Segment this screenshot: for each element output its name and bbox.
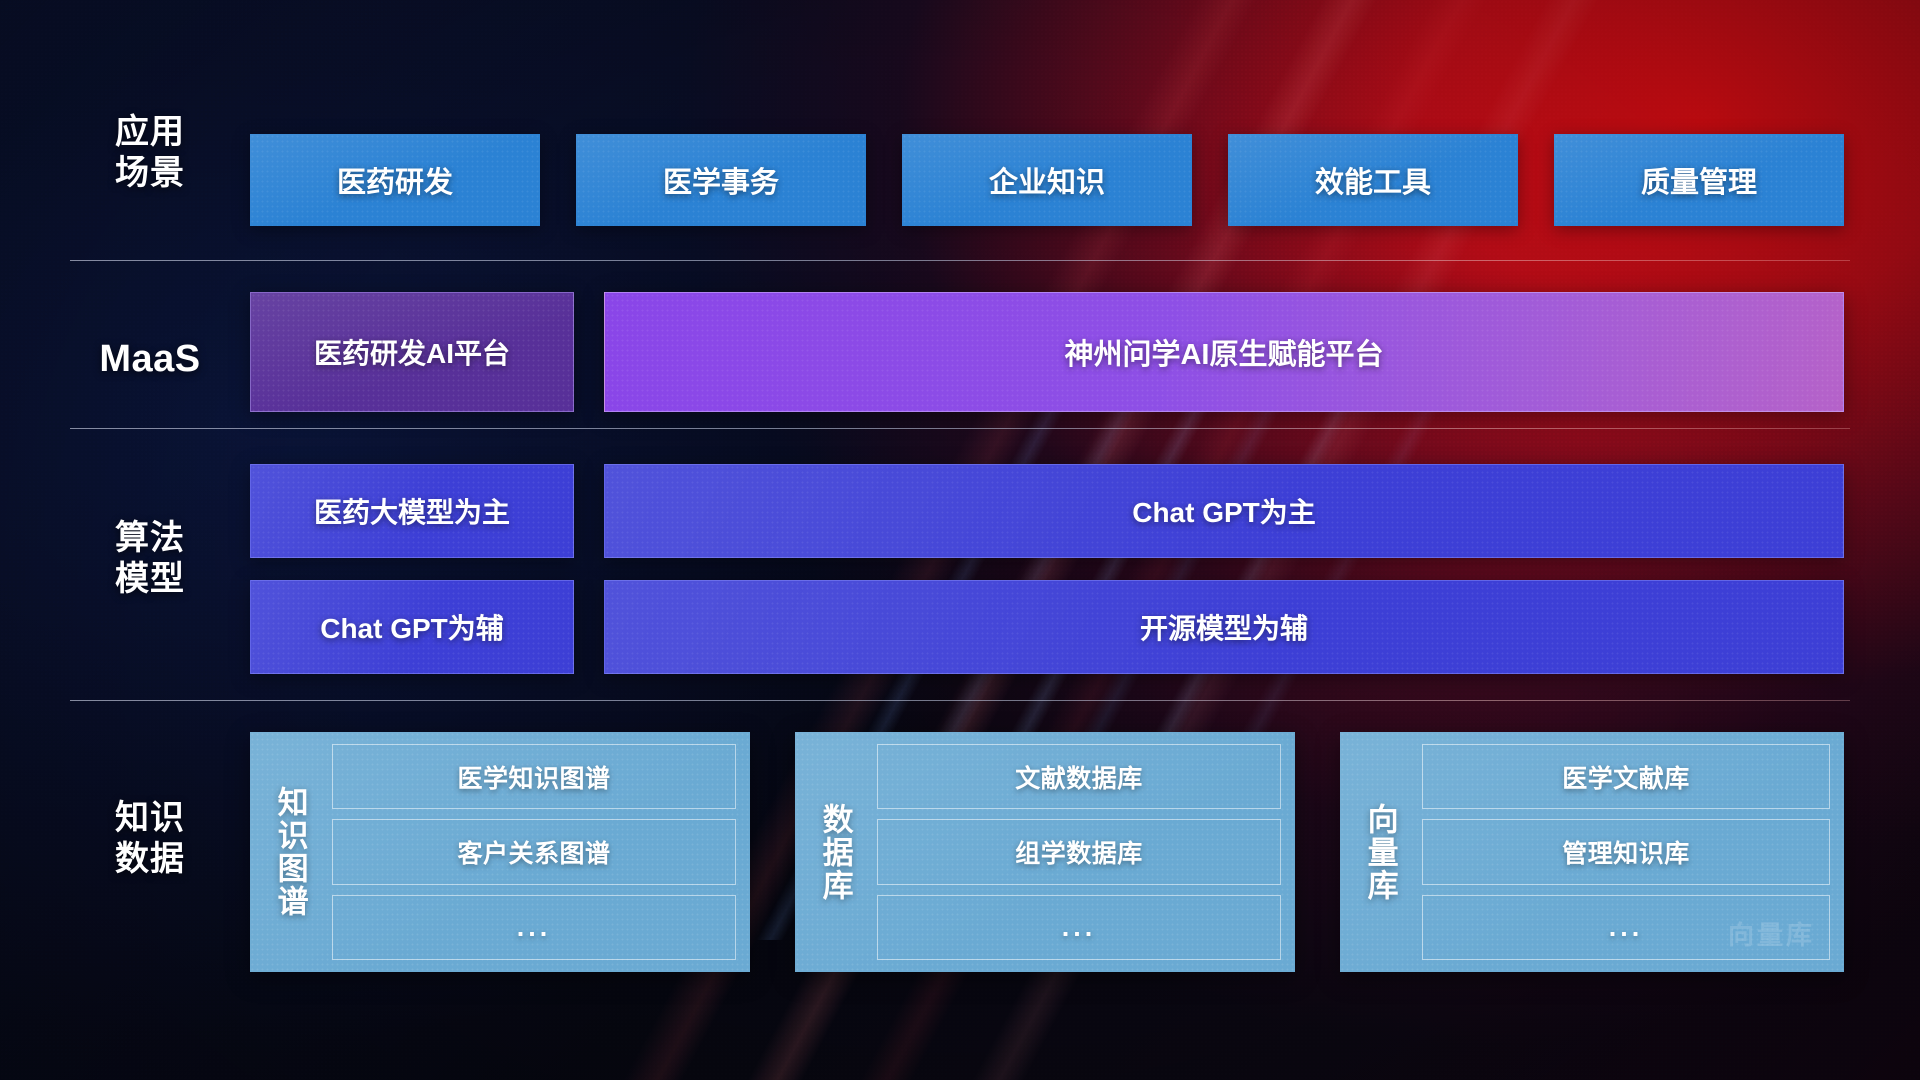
knowledge-card-title-vector-store: 向量库: [1352, 744, 1408, 960]
knowledge-card-database[interactable]: 数据库 文献数据库 组学数据库 ...: [795, 732, 1295, 972]
algo-box-chatgpt-primary[interactable]: Chat GPT为主: [604, 464, 1844, 558]
vector-item-management-knowledge-store[interactable]: 管理知识库: [1422, 819, 1830, 884]
app-box-quality-management[interactable]: 质量管理: [1554, 134, 1844, 226]
database-item-literature-database[interactable]: 文献数据库: [877, 744, 1281, 809]
knowledge-card-vector-store[interactable]: 向量库 医学文献库 管理知识库 ...: [1340, 732, 1844, 972]
knowledge-item-customer-relation-graph[interactable]: 客户关系图谱: [332, 819, 736, 884]
row-label-knowledge-line2: 数据: [75, 839, 225, 880]
knowledge-card-item-list: 医学知识图谱 客户关系图谱 ...: [332, 744, 736, 960]
row-label-maas: MaaS: [75, 336, 225, 382]
algo-box-chatgpt-secondary[interactable]: Chat GPT为辅: [250, 580, 574, 674]
knowledge-card-title-knowledge-graph: 知识图谱: [262, 744, 318, 960]
row-label-algorithm-line1: 算法: [75, 518, 225, 559]
row-label-knowledge-line1: 知识: [75, 798, 225, 839]
maas-box-pharma-ai-platform[interactable]: 医药研发AI平台: [250, 292, 574, 412]
database-item-more-ellipsis[interactable]: ...: [877, 895, 1281, 960]
divider-application-maas: [70, 260, 1850, 261]
knowledge-item-more-ellipsis[interactable]: ...: [332, 895, 736, 960]
algo-box-opensource-secondary[interactable]: 开源模型为辅: [604, 580, 1844, 674]
slide-canvas: 应用 场景 医药研发 医学事务 企业知识 效能工具 质量管理 MaaS 医药研发…: [0, 0, 1920, 1080]
algo-box-pharma-llm-primary[interactable]: 医药大模型为主: [250, 464, 574, 558]
row-label-algorithm-line2: 模型: [75, 559, 225, 600]
app-box-enterprise-knowledge[interactable]: 企业知识: [902, 134, 1192, 226]
row-label-knowledge-data: 知识 数据: [75, 798, 225, 881]
row-label-application-scenario: 应用 场景: [75, 112, 225, 195]
vector-item-more-ellipsis[interactable]: ...: [1422, 895, 1830, 960]
knowledge-card-knowledge-graph[interactable]: 知识图谱 医学知识图谱 客户关系图谱 ...: [250, 732, 750, 972]
vector-item-medical-literature-store[interactable]: 医学文献库: [1422, 744, 1830, 809]
maas-box-shenzhou-wenxue-platform[interactable]: 神州问学AI原生赋能平台: [604, 292, 1844, 412]
architecture-diagram: 应用 场景 医药研发 医学事务 企业知识 效能工具 质量管理 MaaS 医药研发…: [0, 0, 1920, 1080]
knowledge-item-medical-knowledge-graph[interactable]: 医学知识图谱: [332, 744, 736, 809]
database-item-omics-database[interactable]: 组学数据库: [877, 819, 1281, 884]
knowledge-card-title-database: 数据库: [807, 744, 863, 960]
app-box-pharma-rd[interactable]: 医药研发: [250, 134, 540, 226]
row-label-algorithm-model: 算法 模型: [75, 518, 225, 601]
row-label-application-line1: 应用: [75, 112, 225, 153]
divider-maas-algorithm: [70, 428, 1850, 429]
app-box-efficiency-tools[interactable]: 效能工具: [1228, 134, 1518, 226]
database-card-item-list: 文献数据库 组学数据库 ...: [877, 744, 1281, 960]
vector-card-item-list: 医学文献库 管理知识库 ...: [1422, 744, 1830, 960]
divider-algorithm-knowledge: [70, 700, 1850, 701]
row-label-application-line2: 场景: [75, 153, 225, 194]
app-box-medical-affairs[interactable]: 医学事务: [576, 134, 866, 226]
